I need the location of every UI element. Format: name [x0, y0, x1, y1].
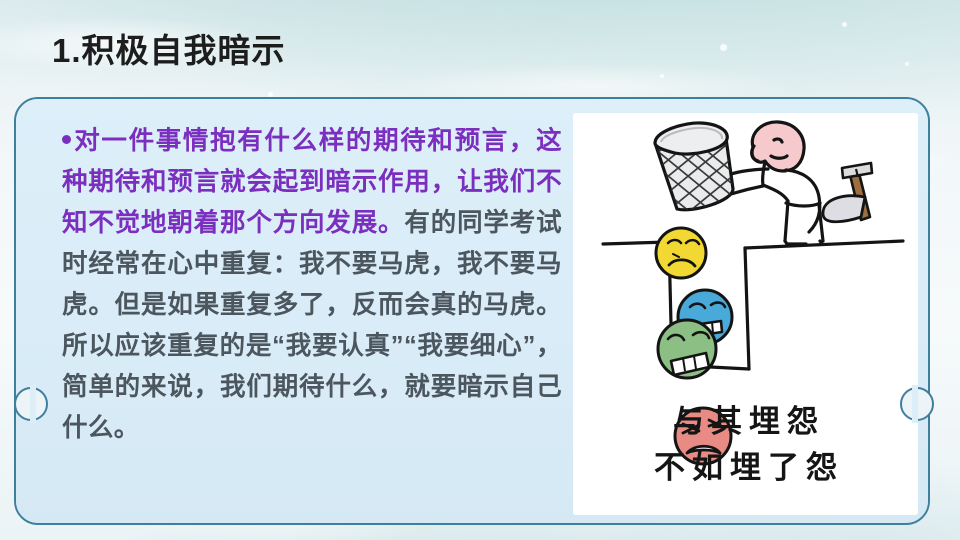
background-speck — [842, 22, 847, 27]
illustration-svg — [573, 113, 918, 515]
body-paragraph: 对一件事情抱有什么样的期待和预言，这种期待和预言就会起到暗示作用，让我们不知不觉… — [62, 121, 562, 449]
content-card: 对一件事情抱有什么样的期待和预言，这种期待和预言就会起到暗示作用，让我们不知不觉… — [14, 97, 930, 525]
paragraph-body-text: 有的同学考试时经常在心中重复：我不要马虎，我不要马虎。但是如果重复多了，反而会真… — [62, 209, 562, 442]
illustration-panel — [573, 113, 918, 515]
emoji-face-yellow — [656, 228, 706, 278]
background-speck — [720, 44, 727, 51]
background-speck — [660, 74, 664, 78]
background-speck — [905, 62, 909, 66]
emoji-face-green — [658, 320, 716, 378]
card-notch-mask-right — [912, 385, 918, 423]
emoji-face-red — [675, 408, 731, 464]
bullet-icon — [62, 135, 71, 144]
card-notch-mask-left — [30, 385, 36, 423]
slide-root: 1.积极自我暗示 对一件事情抱有什么样的期待和预言，这种期待和预言就会起到暗示作… — [0, 0, 960, 540]
page-title: 1.积极自我暗示 — [52, 24, 286, 72]
